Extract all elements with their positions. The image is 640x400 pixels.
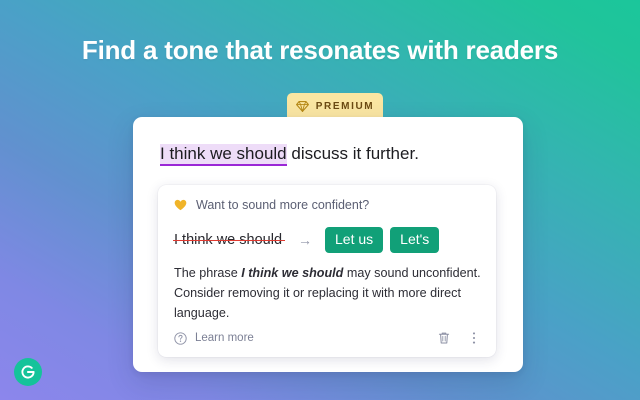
learn-more-button[interactable]: Learn more — [174, 332, 254, 345]
page-title: Find a tone that resonates with readers — [0, 34, 640, 66]
arrow-right-icon: → — [298, 233, 312, 247]
explanation-prefix: The phrase — [174, 266, 241, 280]
trash-icon[interactable] — [436, 330, 452, 346]
premium-badge-label: PREMIUM — [316, 101, 374, 112]
editor-sentence: I think we should discuss it further. — [160, 142, 419, 166]
suggestion-header: Want to sound more confident? — [174, 198, 369, 212]
suggestion-footer: Learn more — [174, 328, 482, 348]
flagged-phrase[interactable]: I think we should — [160, 144, 287, 166]
original-phrase: I think we should — [174, 232, 284, 248]
promo-banner: Find a tone that resonates with readers … — [0, 0, 640, 400]
learn-more-label: Learn more — [195, 332, 254, 344]
replacement-button-0[interactable]: Let us — [325, 227, 383, 253]
explanation-emphasis: I think we should — [241, 266, 343, 280]
suggestion-category-label: Want to sound more confident? — [196, 198, 369, 212]
replacement-row: I think we should → Let us Let's — [174, 226, 482, 254]
gem-icon — [296, 101, 309, 112]
question-circle-icon — [174, 332, 187, 345]
premium-badge: PREMIUM — [287, 93, 383, 119]
grammarly-logo[interactable] — [14, 358, 42, 386]
suggestion-explanation: The phrase I think we should may sound u… — [174, 263, 482, 323]
suggestion-card: Want to sound more confident? I think we… — [158, 185, 496, 357]
editor-card: I think we should discuss it further. Wa… — [133, 117, 523, 372]
sentence-remainder: discuss it further. — [287, 144, 419, 163]
heart-icon — [174, 199, 187, 211]
more-vertical-icon[interactable] — [466, 330, 482, 346]
replacement-button-1[interactable]: Let's — [390, 227, 439, 253]
